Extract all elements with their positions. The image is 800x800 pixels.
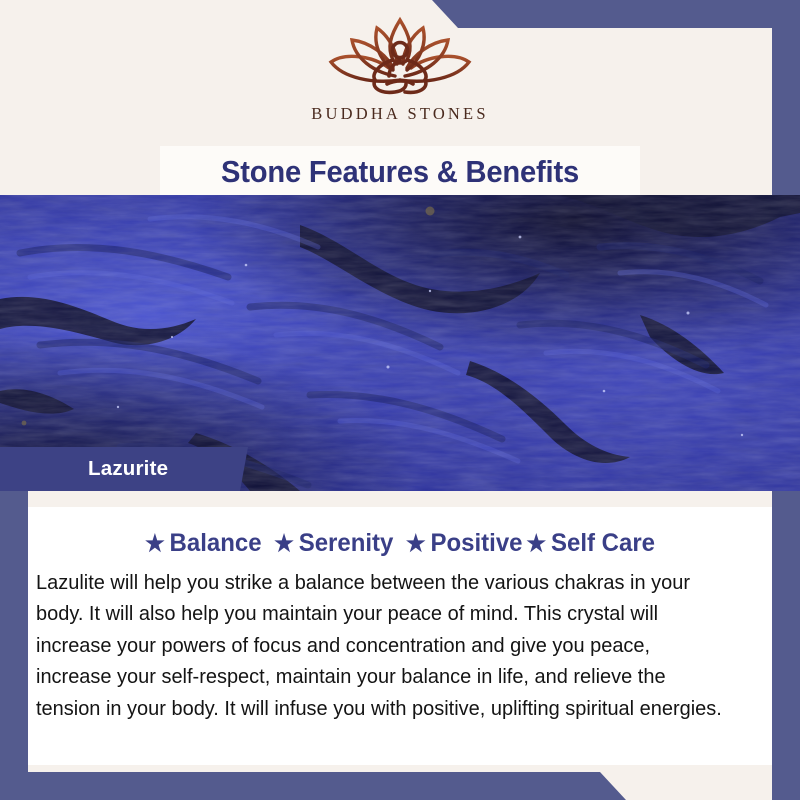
keyword-item-balance: ★ Balance: [145, 529, 262, 558]
keyword-label: Serenity: [299, 529, 394, 558]
brand-wordmark: BUDDHA STONES: [311, 104, 488, 124]
benefits-card: ★ Balance ★ Serenity ★ Positive ★ Self C…: [28, 507, 772, 765]
keyword-list: ★ Balance ★ Serenity ★ Positive ★ Self C…: [43, 529, 757, 558]
lazurite-stone-photo: [0, 195, 800, 491]
star-icon: ★: [526, 532, 546, 555]
keyword-label: Self Care: [551, 529, 655, 558]
brand-logo: BUDDHA STONES: [0, 0, 800, 148]
keyword-label: Positive: [430, 529, 522, 558]
keyword-item-self-care: ★ Self Care: [526, 529, 655, 558]
lotus-meditating-figure-icon: [307, 14, 493, 98]
stone-name-label: Lazurite: [88, 447, 168, 491]
frame-band-bottom: [0, 772, 800, 800]
star-icon: ★: [145, 532, 165, 555]
keyword-label: Balance: [170, 529, 262, 558]
keyword-item-serenity: ★ Serenity: [274, 529, 393, 558]
poster-canvas: BUDDHA STONES Stone Features & Benefits: [0, 0, 800, 800]
frame-band-left: [0, 490, 28, 800]
stone-description: Lazulite will help you strike a balance …: [36, 567, 729, 724]
stone-texture: [0, 195, 800, 491]
stone-name-tag: Lazurite: [0, 447, 248, 491]
star-icon: ★: [406, 532, 426, 555]
page-title: Stone Features & Benefits: [174, 146, 625, 198]
card-separator-strip: [28, 491, 772, 507]
keyword-item-positive: ★ Positive: [406, 529, 523, 558]
star-icon: ★: [274, 532, 294, 555]
